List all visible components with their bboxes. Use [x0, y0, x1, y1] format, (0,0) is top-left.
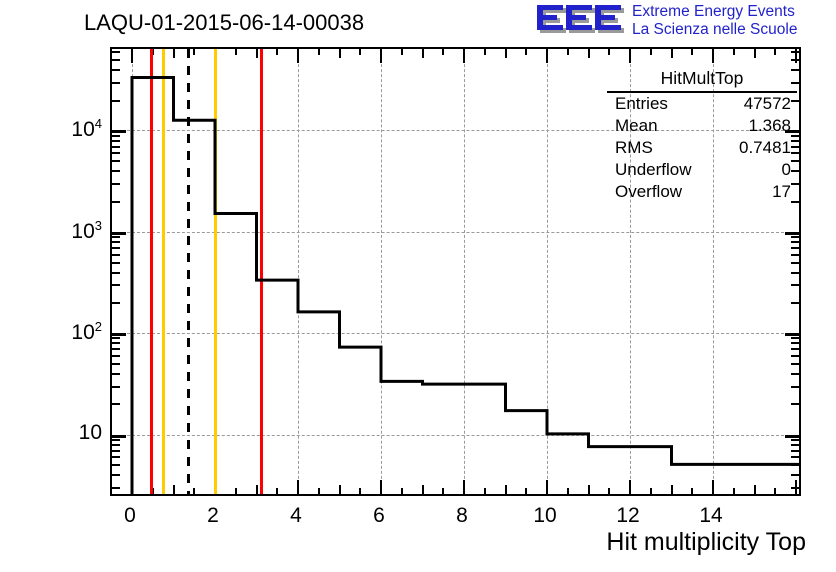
stats-key: Overflow: [615, 181, 682, 203]
stats-key: RMS: [615, 137, 653, 159]
stats-row-underflow: Underflow 0: [607, 159, 797, 181]
stats-value: 1.368: [748, 115, 791, 137]
eee-logo-line2: La Scienza nelle Scuole: [632, 21, 797, 39]
stats-value: 0.7481: [739, 137, 791, 159]
eee-logo: Extreme Energy Events La Scienza nelle S…: [536, 2, 834, 42]
x-axis-title: Hit multiplicity Top: [606, 528, 806, 557]
xtick-label-12: 12: [598, 504, 658, 528]
xtick-label-8: 8: [432, 504, 492, 528]
stats-row-rms: RMS 0.7481: [607, 137, 797, 159]
stats-row-entries: Entries 47572: [607, 93, 797, 115]
page-title: LAQU-01-2015-06-14-00038: [84, 10, 364, 36]
ytick-label-1e4: 104: [38, 116, 102, 142]
eee-logo-mark: [536, 4, 628, 38]
xtick-label-14: 14: [681, 504, 741, 528]
stats-row-overflow: Overflow 17: [607, 181, 797, 203]
stats-row-mean: Mean 1.368: [607, 115, 797, 137]
stats-value: 17: [772, 181, 791, 203]
stats-box-title: HitMultTop: [607, 68, 797, 93]
ytick-label-1e3: 103: [38, 218, 102, 244]
xtick-label-6: 6: [349, 504, 409, 528]
xtick-label-2: 2: [183, 504, 243, 528]
stats-box: HitMultTop Entries 47572 Mean 1.368 RMS …: [607, 68, 797, 202]
xtick-label-4: 4: [266, 504, 326, 528]
ytick-label-1e2: 102: [38, 319, 102, 345]
stats-key: Entries: [615, 93, 668, 115]
ytick-label-1e1: 10: [38, 421, 102, 445]
stats-value: 0: [782, 159, 791, 181]
xtick-label-0: 0: [100, 504, 160, 528]
stats-key: Underflow: [615, 159, 692, 181]
stats-value: 47572: [744, 93, 791, 115]
stats-key: Mean: [615, 115, 658, 137]
eee-logo-text: Extreme Energy Events La Scienza nelle S…: [632, 3, 797, 39]
xtick-label-10: 10: [515, 504, 575, 528]
eee-logo-line1: Extreme Energy Events: [632, 3, 797, 21]
